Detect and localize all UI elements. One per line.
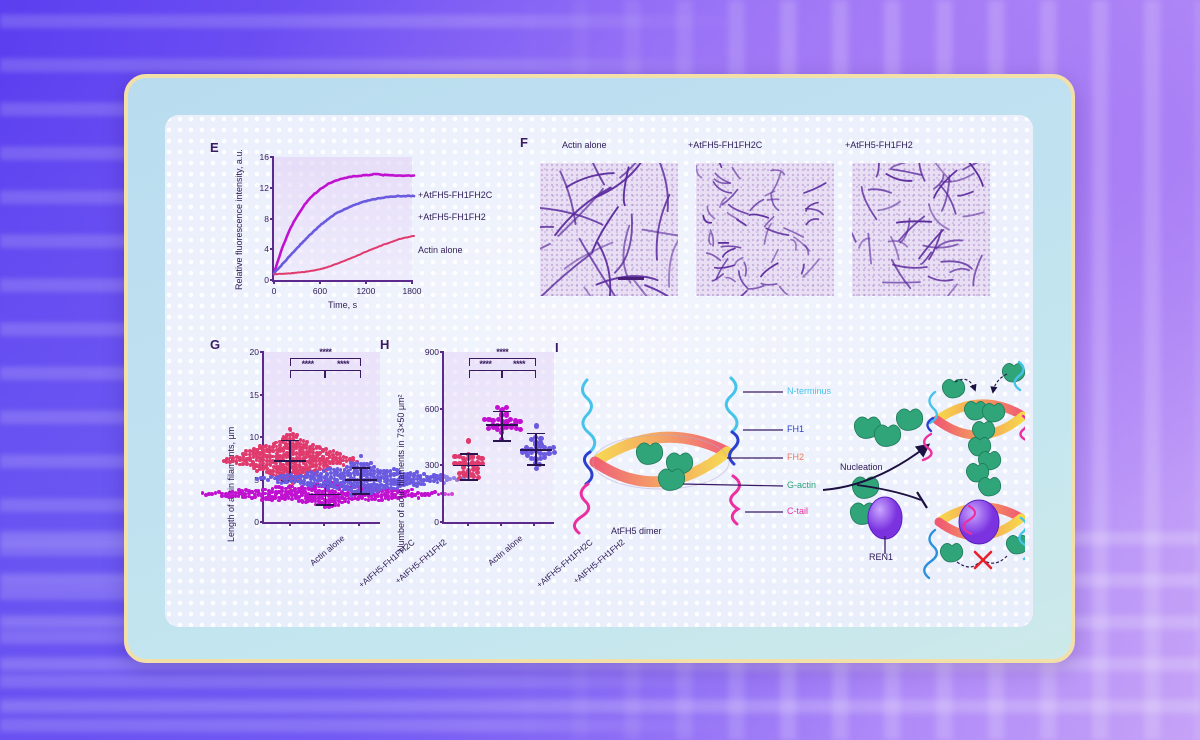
panel-e-xtick-600: 600	[313, 286, 327, 296]
significance-bracket	[469, 370, 503, 378]
scatter-dot	[237, 488, 241, 492]
scatter-dot	[252, 467, 256, 471]
panel-g-ytick-20: 20	[250, 347, 259, 357]
scatter-dot	[309, 484, 313, 488]
label-g-actin: G-actin	[787, 480, 816, 490]
significance-stars: ****	[513, 359, 525, 369]
significance-stars: ****	[479, 359, 491, 369]
scatter-dot	[264, 444, 268, 448]
scatter-dot	[335, 486, 339, 490]
scatter-dot	[272, 442, 276, 446]
scatter-dot	[326, 486, 330, 490]
panel-h-ylabel: Number of actin filaments in 73×50 μm²	[396, 394, 406, 552]
scatter-dot	[214, 491, 218, 495]
figure-canvas: E Relative fluorescence intensity, a.u. …	[165, 115, 1033, 627]
scatter-dot	[496, 417, 501, 422]
scatter-dot	[274, 485, 278, 489]
scatter-dot	[305, 440, 309, 444]
micrograph-filaments	[540, 163, 678, 296]
scatter-dot	[372, 465, 376, 469]
panel-e-ylabel: Relative fluorescence intensity, a.u.	[234, 149, 244, 290]
panel-h-ytick-900: 900	[425, 347, 439, 357]
scatter-dot	[546, 451, 551, 456]
scatter-dot	[252, 447, 256, 451]
panel-g-ytick-10: 10	[250, 432, 259, 442]
error-cap-upper	[352, 467, 370, 469]
label-fh2: FH2	[787, 452, 804, 462]
error-cap-lower	[352, 493, 370, 495]
scatter-dot	[534, 466, 539, 471]
scatter-dot	[482, 417, 487, 422]
panel-g-xtickmark-0	[289, 522, 291, 526]
scatter-dot	[293, 487, 297, 491]
label-atfh5-dimer: AtFH5 dimer	[611, 526, 662, 536]
panel-g: G Length of actin filaments, μm 0 5 10 1…	[210, 337, 390, 597]
panel-g-ytick-15: 15	[250, 390, 259, 400]
scatter-dot	[293, 480, 297, 484]
scatter-dot	[310, 499, 314, 503]
error-cap-lower	[527, 464, 545, 466]
label-ren1: REN1	[869, 552, 893, 562]
scatter-dot	[289, 473, 293, 477]
blocked-cross-icon	[975, 552, 991, 568]
significance-stars: ****	[496, 347, 508, 357]
scatter-dot	[339, 476, 343, 480]
scatter-dot	[260, 498, 264, 502]
panel-h-xtickmark-0	[467, 522, 469, 526]
scatter-dot	[241, 495, 245, 499]
panel-g-letter: G	[210, 337, 220, 352]
scatter-dot	[346, 469, 350, 473]
scatter-dot	[252, 452, 256, 456]
panel-e-series-actin-alone	[274, 236, 414, 274]
panel-h-xlabel-0: Actin alone	[486, 533, 525, 568]
fh1-br-left	[924, 530, 937, 578]
panel-e-plot-area: 0 4 8 12 16 0 600 1200 1800	[272, 157, 412, 282]
scatter-dot	[452, 454, 457, 459]
error-bar	[360, 467, 362, 493]
panel-e-legend-fh1fh2c: +AtFH5-FH1FH2C	[418, 190, 492, 200]
scatter-dot	[301, 500, 305, 504]
scatter-dot	[268, 454, 272, 458]
scatter-dot	[346, 487, 350, 491]
micrograph-fh1fh2	[852, 163, 990, 296]
panel-f-letter: F	[520, 135, 528, 150]
scatter-dot	[241, 452, 245, 456]
panel-h-xtickmark-1	[500, 522, 502, 526]
error-cap-upper	[493, 411, 511, 413]
panel-g-ytick-0: 0	[254, 517, 259, 527]
significance-stars: ****	[319, 347, 331, 357]
panel-g-xtickmark-1	[323, 522, 325, 526]
fh1-strand-right	[730, 432, 739, 464]
scatter-dot	[254, 489, 258, 493]
panel-g-plot-area: 0 5 10 15 20 ************	[262, 352, 380, 524]
scatter-dot	[238, 463, 242, 467]
fh1-tr-left	[927, 418, 933, 431]
scatter-dot	[244, 488, 248, 492]
scatter-dot	[325, 472, 329, 476]
micrograph-fh1fh2c	[696, 163, 834, 296]
scatter-dot	[466, 438, 471, 443]
panel-e-ytick-0: 0	[264, 275, 269, 285]
scatter-dot	[238, 458, 242, 462]
significance-bracket	[290, 370, 325, 378]
scatter-dot	[298, 463, 302, 467]
n-terminus-strand-right	[726, 378, 737, 432]
panel-f-title-0: Actin alone	[562, 140, 607, 150]
panel-e-ytick-12: 12	[260, 183, 269, 193]
scatter-dot	[304, 500, 308, 504]
panel-h-letter: H	[380, 337, 390, 352]
scatter-dot	[277, 490, 281, 494]
scatter-dot	[274, 490, 278, 494]
label-fh1: FH1	[787, 424, 804, 434]
significance-stars: ****	[302, 359, 314, 369]
significance-bracket	[325, 370, 360, 378]
panel-h-ytickmark-300	[440, 464, 444, 466]
growing-filament	[966, 437, 1000, 496]
label-n-terminus: N-terminus	[787, 386, 831, 396]
panel-h-ytick-0: 0	[434, 517, 439, 527]
scatter-dot	[267, 489, 271, 493]
scatter-dot	[504, 425, 509, 430]
scatter-dot	[217, 490, 221, 494]
scatter-dot	[253, 495, 257, 499]
error-cap-upper	[281, 440, 299, 442]
scatter-dot	[245, 462, 249, 466]
n-terminus-strand-left	[583, 380, 595, 452]
error-cap-upper	[460, 453, 478, 455]
panel-g-ylabel: Length of actin filaments, μm	[226, 427, 236, 542]
g-actin-pool-top	[854, 409, 922, 447]
scatter-dot	[276, 475, 280, 479]
fh1-strand-left	[584, 452, 592, 484]
scatter-dot	[329, 471, 333, 475]
panel-e-xtick-1200: 1200	[356, 286, 375, 296]
panel-g-xlabel-0: Actin alone	[308, 533, 347, 568]
scatter-dot	[262, 453, 266, 457]
panel-e-xtick-0: 0	[272, 286, 277, 296]
scatter-dot	[284, 490, 288, 494]
micrograph-actin-alone	[540, 163, 678, 296]
panel-h-ytickmark-600	[440, 408, 444, 410]
scatter-dot	[339, 468, 343, 472]
scatter-dot	[337, 503, 341, 507]
panel-e-curves	[274, 157, 414, 282]
panel-f-title-1: +AtFH5-FH1FH2C	[688, 140, 762, 150]
panel-h: H Number of actin filaments in 73×50 μm²…	[380, 337, 570, 597]
ren1-shape	[868, 497, 902, 539]
scatter-dot	[319, 472, 323, 476]
scatter-dot	[290, 497, 294, 501]
scatter-dot	[265, 470, 269, 474]
panel-e-series-fh1fh2c	[274, 174, 414, 274]
scatter-dot	[237, 494, 241, 498]
micrograph-filaments	[852, 163, 990, 296]
incoming-g-actin	[942, 363, 1024, 398]
scatter-dot	[306, 483, 310, 487]
inner-card: E Relative fluorescence intensity, a.u. …	[165, 115, 1033, 627]
panel-g-ytickmark-10	[260, 436, 264, 438]
scatter-dot	[265, 448, 269, 452]
scatter-dot	[534, 423, 539, 428]
panel-e-ytick-16: 16	[260, 152, 269, 162]
scatter-dot	[284, 487, 288, 491]
panel-e-ytick-8: 8	[264, 214, 269, 224]
scatter-dot	[258, 444, 262, 448]
error-bar	[535, 433, 537, 465]
panel-e-legend-actin-alone: Actin alone	[418, 245, 463, 255]
scatter-dot	[201, 491, 205, 495]
scatter-dot	[292, 475, 296, 479]
error-cap-lower	[460, 479, 478, 481]
panel-h-plot-area: 0 300 600 900 ************	[442, 352, 554, 524]
c-tail-strand-left	[574, 484, 588, 533]
error-bar	[501, 411, 503, 440]
micrograph-filaments	[696, 163, 834, 296]
panel-h-ytick-300: 300	[425, 460, 439, 470]
scatter-dot	[479, 456, 484, 461]
scatter-dot	[280, 481, 284, 485]
scatter-dot	[294, 496, 298, 500]
scatter-dot	[470, 454, 475, 459]
scatter-dot	[538, 436, 543, 441]
scatter-dot	[210, 492, 214, 496]
panel-e-letter: E	[210, 140, 219, 155]
scatter-dot	[295, 433, 299, 437]
scatter-dot	[359, 454, 363, 458]
panel-g-ytickmark-15	[260, 394, 264, 396]
scatter-dot	[248, 458, 252, 462]
scatter-dot	[486, 417, 491, 422]
scatter-dot	[326, 467, 330, 471]
scatter-dot	[296, 475, 300, 479]
significance-bracket	[290, 358, 361, 366]
scatter-dot	[283, 481, 287, 485]
scatter-dot	[264, 497, 268, 501]
panel-f-title-2: +AtFH5-FH1FH2	[845, 140, 913, 150]
scatter-dot	[207, 492, 211, 496]
panel-e-xtick-1800: 1800	[403, 286, 422, 296]
scatter-dot	[220, 494, 224, 498]
panel-h-ytickmark-900	[440, 351, 444, 353]
panel-h-ytickmark-0	[440, 521, 444, 523]
scatter-dot	[285, 433, 289, 437]
c-tail-strand-right	[731, 476, 740, 524]
scatter-dot	[289, 479, 293, 483]
panel-g-xtickmark-2	[358, 522, 360, 526]
panel-h-xtickmark-2	[533, 522, 535, 526]
scatter-dot	[204, 493, 208, 497]
significance-bracket	[502, 370, 536, 378]
scatter-dot	[235, 455, 239, 459]
panel-g-ytickmark-20	[260, 351, 264, 353]
panel-h-ytick-600: 600	[425, 404, 439, 414]
significance-stars: ****	[337, 359, 349, 369]
error-bar	[468, 453, 470, 479]
scatter-dot	[255, 448, 259, 452]
error-cap-lower	[493, 440, 511, 442]
scale-bar	[618, 277, 644, 280]
scatter-dot	[328, 479, 332, 483]
scatter-dot	[316, 479, 320, 483]
scatter-dot	[222, 459, 226, 463]
scatter-dot	[259, 476, 263, 480]
scatter-dot	[486, 426, 491, 431]
panel-e-ytick-4: 4	[264, 244, 269, 254]
panel-e: E Relative fluorescence intensity, a.u. …	[210, 140, 510, 330]
scatter-dot	[327, 505, 331, 509]
label-c-tail: C-tail	[787, 506, 808, 516]
scatter-dot	[266, 478, 270, 482]
scatter-dot	[338, 452, 342, 456]
scatter-dot	[462, 472, 467, 477]
scatter-dot	[538, 440, 543, 445]
scatter-dot	[313, 472, 317, 476]
panel-i: I	[555, 340, 1025, 620]
panel-e-legend-fh1fh2: +AtFH5-FH1FH2	[418, 212, 486, 222]
scatter-dot	[224, 494, 228, 498]
panel-e-xlabel: Time, s	[328, 300, 357, 310]
scatter-dot	[347, 500, 351, 504]
error-cap-lower	[316, 504, 334, 506]
scatter-dot	[518, 427, 523, 432]
scatter-dot	[230, 494, 234, 498]
panel-g-ytickmark-0	[260, 521, 264, 523]
scatter-dot	[309, 470, 313, 474]
scatter-dot	[268, 448, 272, 452]
scatter-dot	[504, 405, 509, 410]
panel-f: F Actin alone +AtFH5-FH1FH2C +AtFH5-FH1F…	[520, 135, 1010, 335]
scatter-dot	[277, 499, 281, 503]
scatter-dot	[278, 443, 282, 447]
scatter-dot	[255, 458, 259, 462]
scatter-dot	[332, 485, 336, 489]
error-cap-upper	[527, 433, 545, 435]
scatter-dot	[356, 472, 360, 476]
label-nucleation: Nucleation	[840, 462, 883, 472]
